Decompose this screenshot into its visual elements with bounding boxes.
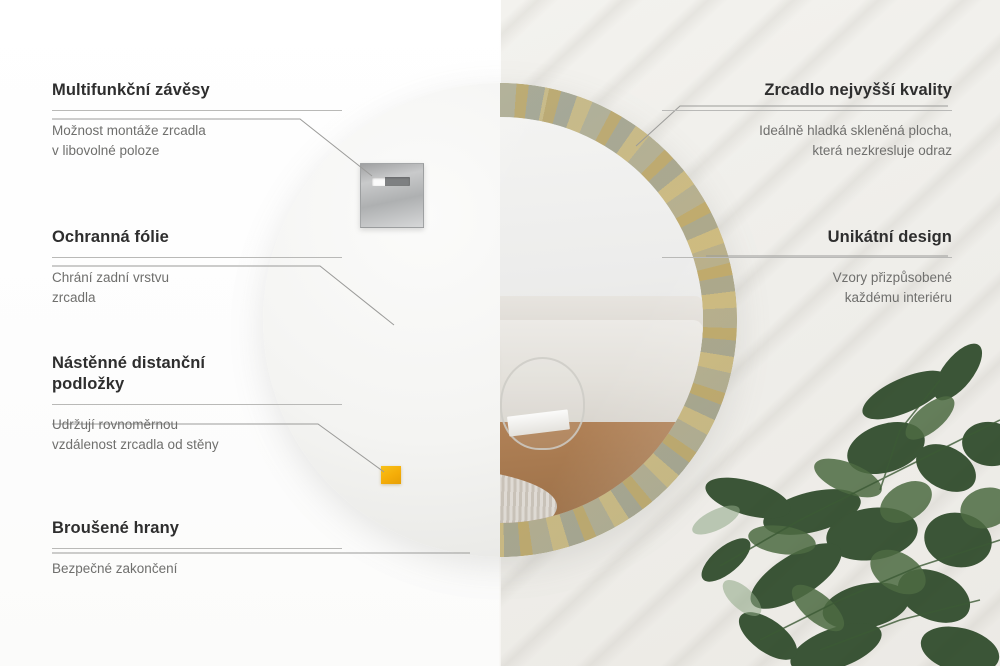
desc-line-2: každému interiéru (845, 290, 952, 305)
infographic-stage: Multifunkční závěsy Možnost montáže zrca… (0, 0, 1000, 666)
mirror-glass (500, 117, 703, 523)
title-line-1: Nástěnné distanční (52, 354, 205, 372)
callout-title: Multifunkční závěsy (52, 80, 342, 101)
callout-title: Ochranná fólie (52, 227, 342, 248)
callout-unikatni-design: Unikátní design Vzory přizpůsobené každé… (662, 227, 952, 307)
callout-rule (662, 110, 952, 111)
desc-line-2: v libovolné poloze (52, 143, 159, 158)
callout-title: Broušené hrany (52, 518, 342, 539)
callout-multifunkcni-zavesy: Multifunkční závěsy Možnost montáže zrca… (52, 80, 342, 160)
callout-description: Ideálně hladká skleněná plocha, která ne… (662, 121, 952, 160)
desc-line-1: Bezpečné zakončení (52, 561, 177, 576)
desc-line-2: vzdálenost zrcadla od stěny (52, 437, 219, 452)
title-line-2: podložky (52, 375, 124, 393)
callout-rule (52, 548, 342, 549)
callout-description: Bezpečné zakončení (52, 559, 342, 579)
callout-description: Udržují rovnoměrnou vzdálenost zrcadla o… (52, 415, 342, 454)
callout-title: Zrcadlo nejvyšší kvality (662, 80, 952, 101)
desc-line-2: zrcadla (52, 290, 96, 305)
desc-line-1: Udržují rovnoměrnou (52, 417, 178, 432)
desc-line-1: Možnost montáže zrcadla (52, 123, 206, 138)
callout-brousene-hrany: Broušené hrany Bezpečné zakončení (52, 518, 342, 579)
desc-line-1: Ideálně hladká skleněná plocha, (759, 123, 952, 138)
callout-zrcadlo-nejvyssi-kvality: Zrcadlo nejvyšší kvality Ideálně hladká … (662, 80, 952, 160)
hanger-keyhole-slot (372, 177, 410, 186)
hanger-plate-icon (360, 163, 424, 228)
callout-description: Chrání zadní vrstvu zrcadla (52, 268, 342, 307)
callout-nastenne-distancni-podlozky: Nástěnné distanční podložky Udržují rovn… (52, 353, 342, 454)
spacer-pad-icon (381, 466, 401, 484)
callout-title: Unikátní design (662, 227, 952, 248)
desc-line-1: Vzory přizpůsobené (833, 270, 952, 285)
desc-line-1: Chrání zadní vrstvu (52, 270, 169, 285)
callout-ochranna-folie: Ochranná fólie Chrání zadní vrstvu zrcad… (52, 227, 342, 307)
callout-description: Vzory přizpůsobené každému interiéru (662, 268, 952, 307)
callout-description: Možnost montáže zrcadla v libovolné polo… (52, 121, 342, 160)
callout-rule (52, 110, 342, 111)
callout-rule (52, 404, 342, 405)
desc-line-2: která nezkresluje odraz (812, 143, 952, 158)
callout-title: Nástěnné distanční podložky (52, 353, 342, 395)
callout-rule (52, 257, 342, 258)
callout-rule (662, 257, 952, 258)
